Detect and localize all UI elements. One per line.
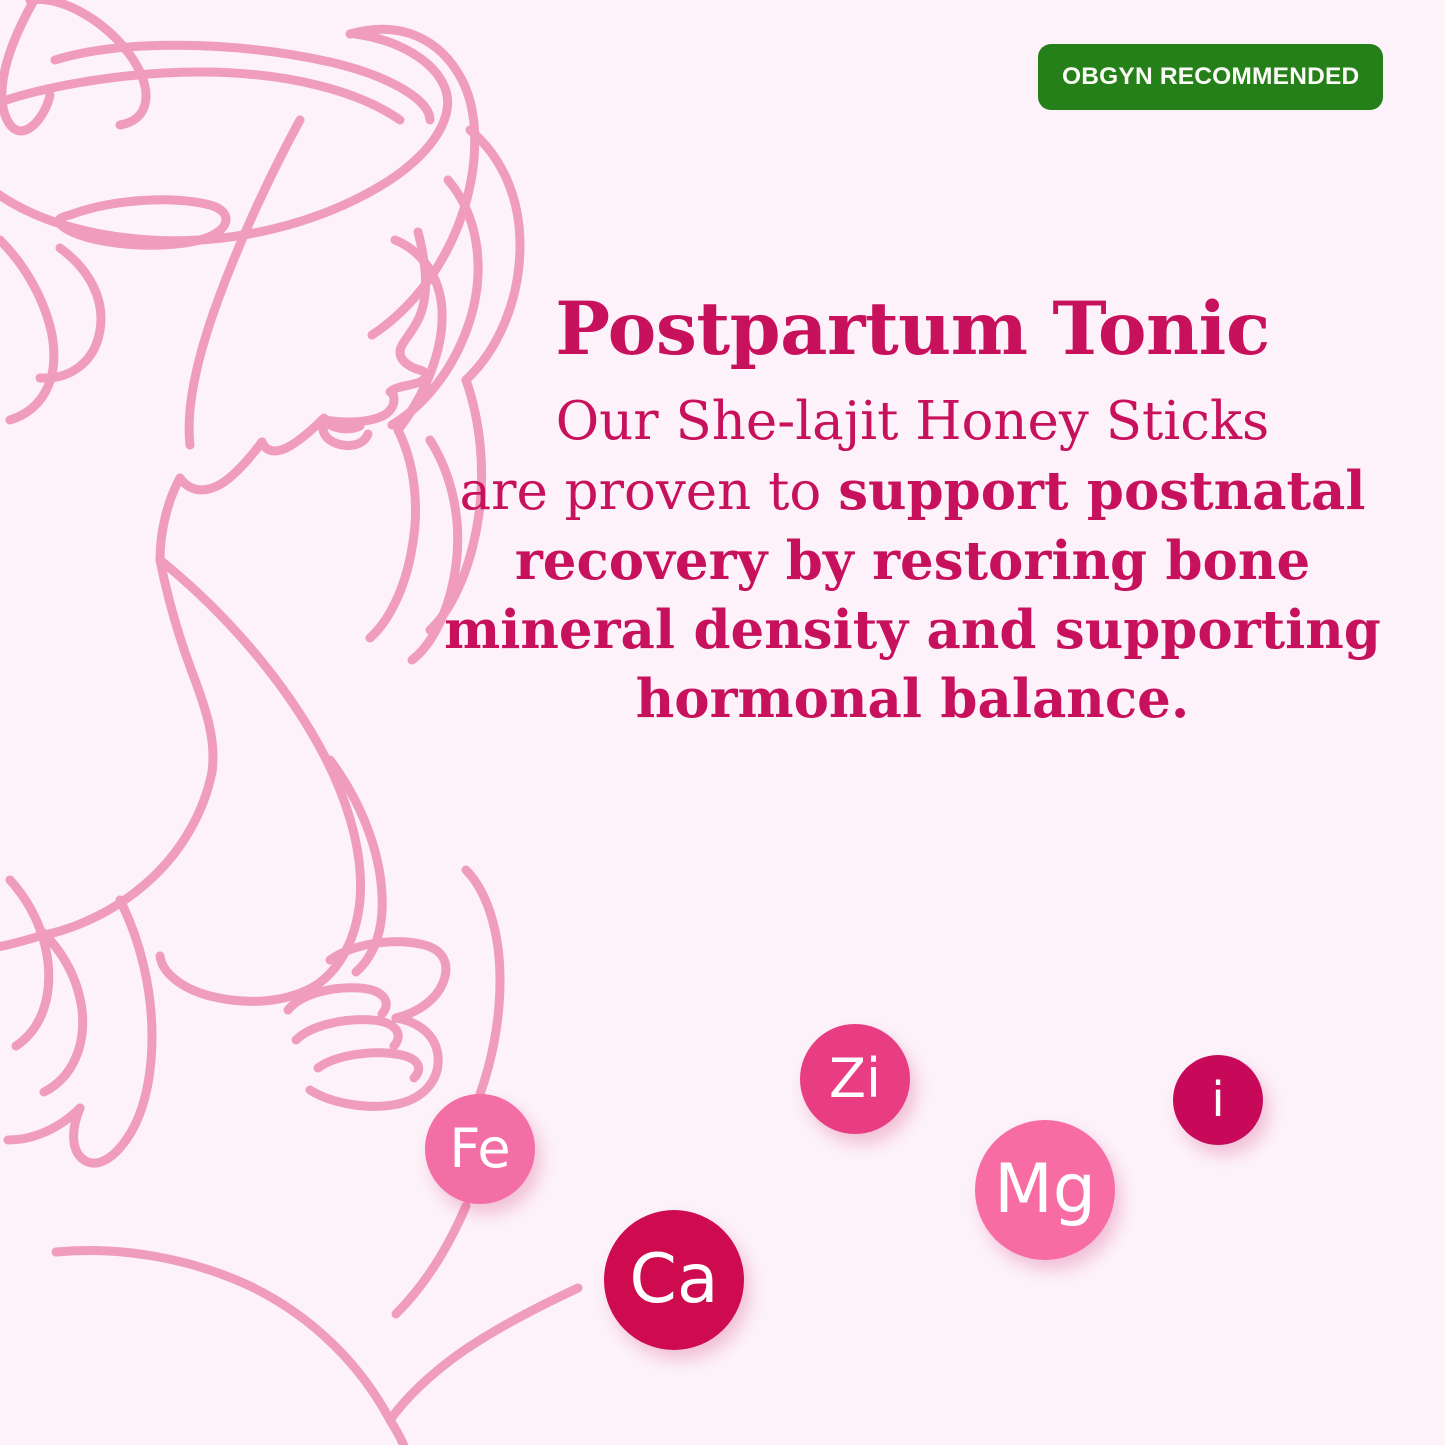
mineral-symbol-fe: Fe (449, 1122, 510, 1176)
body-line-2-bold: support postnatal (838, 460, 1365, 522)
body-line-4: mineral density and supporting (410, 596, 1415, 665)
body-line-1-text: Our She-lajit Honey Sticks (556, 391, 1270, 452)
body-line-5: hormonal balance. (410, 665, 1415, 734)
mineral-bubble-zinc: Zi (800, 1024, 910, 1134)
obgyn-recommended-badge: OBGYN RECOMMENDED (1038, 44, 1383, 110)
page-title: Postpartum Tonic (410, 292, 1415, 366)
body-line-1: Our She-lajit Honey Sticks (410, 388, 1415, 457)
mineral-bubble-calcium: Ca (604, 1210, 744, 1350)
mineral-symbol-ca: Ca (629, 1246, 718, 1314)
body-copy: Our She-lajit Honey Sticks are proven to… (410, 388, 1415, 733)
copy-block: Postpartum Tonic Our She-lajit Honey Sti… (410, 292, 1415, 734)
mineral-symbol-mg: Mg (994, 1156, 1096, 1224)
body-line-3: recovery by restoring bone (410, 527, 1415, 596)
promo-graphic-canvas: OBGYN RECOMMENDED Postpartum Tonic Our S… (0, 0, 1445, 1445)
mineral-symbol-i: i (1211, 1076, 1224, 1124)
mineral-bubble-iron: Fe (425, 1094, 535, 1204)
body-line-2-regular: are proven to (460, 461, 839, 522)
mineral-symbol-zi: Zi (829, 1052, 881, 1106)
badge-label: OBGYN RECOMMENDED (1062, 63, 1359, 91)
mineral-bubble-magnesium: Mg (975, 1120, 1115, 1260)
body-line-2: are proven to support postnatal (410, 457, 1415, 527)
mineral-bubble-iodine: i (1173, 1055, 1263, 1145)
